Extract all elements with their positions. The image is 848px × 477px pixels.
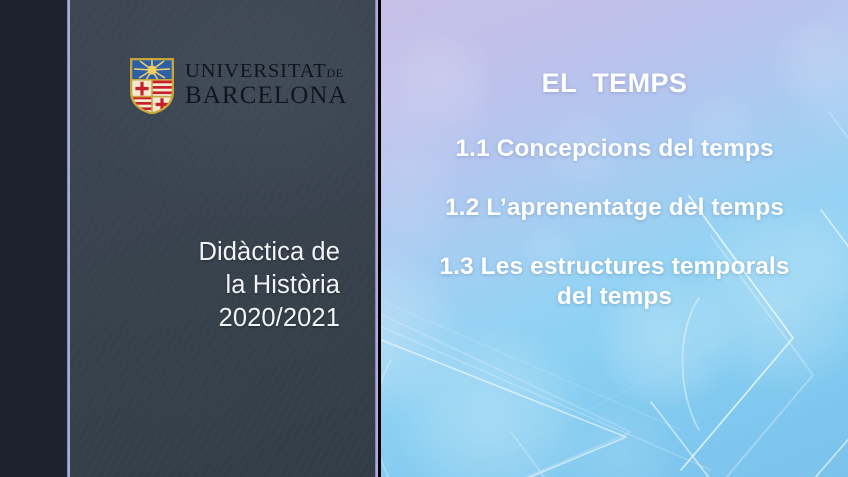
agenda-item-2: 1.2 L’aprenentatge del temps — [381, 193, 848, 223]
ub-crest-icon — [130, 58, 174, 114]
agenda-item-3: 1.3 Les estructures temporalsdel temps — [381, 252, 848, 312]
university-logo: UNIVERSITATDE BARCELONA — [130, 58, 348, 114]
wordmark-barcelona: BARCELONA — [185, 83, 348, 108]
panel-accent-rule — [375, 0, 378, 477]
course-title-line-2: la Història — [110, 269, 340, 302]
left-edge-strip — [0, 0, 67, 477]
university-wordmark: UNIVERSITATDE BARCELONA — [185, 61, 348, 112]
slide-background: EL TEMPS 1.1 Concepcions del temps 1.2 L… — [381, 0, 848, 477]
slide-content: EL TEMPS 1.1 Concepcions del temps 1.2 L… — [381, 0, 848, 477]
title-panel: UNIVERSITATDE BARCELONA Didàctica de la … — [70, 0, 378, 477]
wordmark-line-1: UNIVERSITATDE — [185, 61, 348, 82]
wordmark-universitat: UNIVERSITAT — [185, 60, 327, 82]
course-title-line-1: Didàctica de — [110, 236, 340, 269]
wordmark-de: DE — [327, 66, 344, 80]
slide-heading: EL TEMPS — [381, 68, 848, 99]
agenda-item-1: 1.1 Concepcions del temps — [381, 134, 848, 164]
course-title: Didàctica de la Història 2020/2021 — [110, 236, 340, 335]
presentation-slide: UNIVERSITATDE BARCELONA Didàctica de la … — [0, 0, 848, 477]
course-title-line-3: 2020/2021 — [110, 302, 340, 335]
